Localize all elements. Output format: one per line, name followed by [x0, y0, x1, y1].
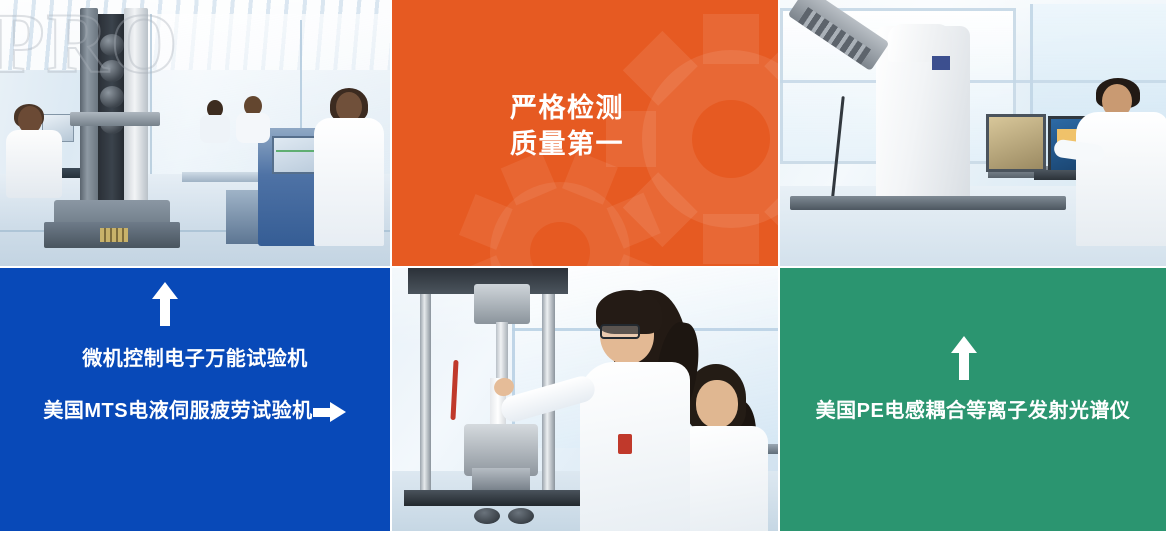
- green-panel-content: 美国PE电感耦合等离子发射光谱仪: [780, 268, 1166, 531]
- machine-grip-3: [100, 86, 124, 108]
- blue-label-line-2: 美国MTS电液伺服疲劳试验机: [43, 400, 312, 422]
- lab-photo-universal-testing-machine: PRO: [0, 0, 390, 266]
- test-frame-column-left: [420, 268, 431, 498]
- seated-technician: [6, 106, 62, 198]
- lab-photo-electron-microscope: [780, 0, 1166, 266]
- slogan-panel-orange[interactable]: 严格检测 质量第一: [392, 0, 778, 266]
- background-person-a: [200, 100, 230, 142]
- sem-operator: [1076, 78, 1166, 246]
- control-knob-left: [474, 508, 500, 524]
- label-panel-blue[interactable]: 微机控制电子万能试验机 美国MTS电液伺服疲劳试验机: [0, 268, 390, 531]
- hydraulic-hose: [450, 360, 458, 420]
- control-knob-right: [508, 508, 534, 524]
- secondary-display: [986, 114, 1046, 172]
- hydraulic-actuator: [474, 284, 530, 324]
- machine-grip-2: [100, 60, 124, 82]
- label-panel-green[interactable]: 美国PE电感耦合等离子发射光谱仪: [780, 268, 1166, 531]
- background-person-b: [236, 96, 270, 142]
- lab-bench: [182, 172, 262, 182]
- load-cell-base: [472, 468, 530, 490]
- green-label-line-1: 美国PE电感耦合等离子发射光谱仪: [780, 394, 1166, 423]
- primary-technician: [560, 286, 690, 531]
- machine-keypad: [100, 228, 128, 242]
- machine-crosshead: [70, 112, 160, 126]
- blue-label-line-1: 微机控制电子万能试验机: [0, 342, 390, 371]
- machine-grip-1: [100, 34, 124, 56]
- actuator-rod: [496, 322, 508, 386]
- sem-brand-plate: [932, 56, 950, 70]
- anti-vibration-table: [790, 196, 1066, 210]
- photo-tile-electron-microscope[interactable]: [780, 0, 1166, 266]
- blue-label-line-2-row: 美国MTS电液伺服疲劳试验机: [0, 394, 390, 423]
- slogan-line-1: 严格检测: [510, 90, 624, 126]
- arrow-right-icon: [313, 402, 347, 422]
- slogan-line-2: 质量第一: [510, 126, 624, 162]
- equipment-showcase-board: PRO 严格检测 质量第一: [0, 0, 1166, 537]
- gear-icon-small: [460, 152, 660, 266]
- blue-panel-content: 微机控制电子万能试验机 美国MTS电液伺服疲劳试验机: [0, 268, 390, 531]
- standing-technician: [314, 92, 384, 246]
- slogan-text-block: 严格检测 质量第一: [510, 90, 624, 162]
- lab-photo-fatigue-testing: [392, 268, 778, 531]
- photo-tile-fatigue-testing[interactable]: [392, 268, 778, 531]
- photo-tile-universal-testing-machine[interactable]: PRO: [0, 0, 390, 266]
